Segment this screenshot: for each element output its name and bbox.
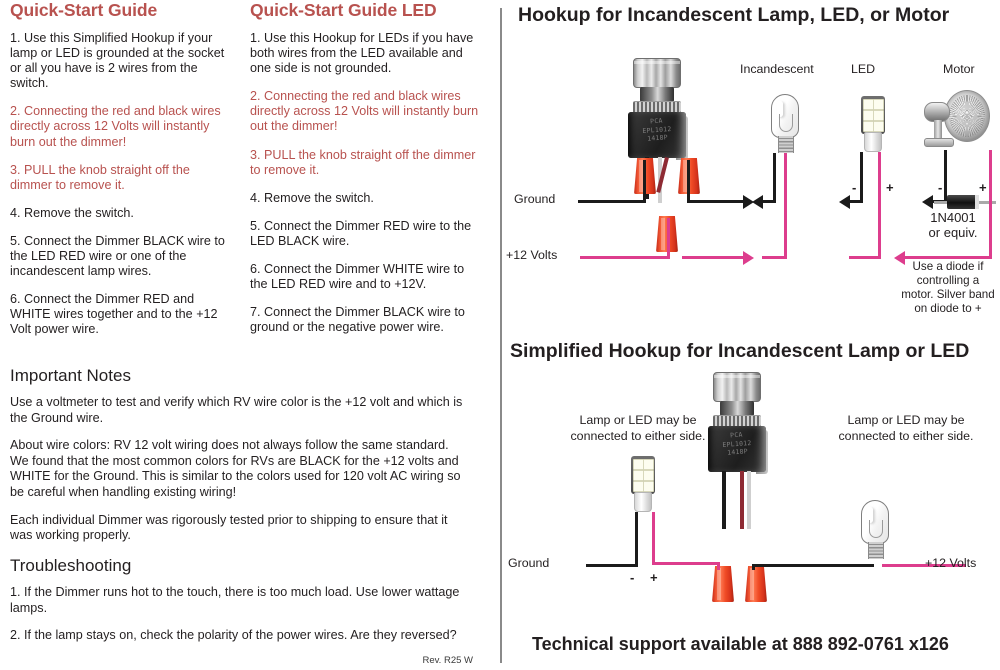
dimmer-marking-text: PCAEPL10121418P	[707, 429, 767, 458]
wire-nut	[745, 566, 767, 602]
quick-start-step: 3. PULL the knob straight off the dimmer…	[10, 163, 235, 193]
motor-wire-pink	[989, 150, 992, 257]
label-incandescent: Incandescent	[740, 62, 814, 76]
led-plus-sign: +	[650, 570, 658, 585]
dimmer-marking-text: PCAEPL10121418P	[627, 115, 687, 144]
dimmer-device-bottom: PCAEPL10121418P	[700, 372, 774, 492]
dimmer-neck	[640, 87, 674, 102]
motor-plus-sign: +	[979, 180, 987, 195]
led-wire-black	[860, 152, 863, 201]
incandescent-wire-pink	[784, 153, 787, 257]
power-wire-pink	[682, 256, 744, 259]
fan-cage	[944, 90, 990, 142]
led-wire-pink	[849, 256, 881, 259]
arrow-left-icon	[839, 195, 850, 209]
incandescent-bulb-icon	[858, 500, 892, 562]
troubleshooting-section: Troubleshooting 1. If the Dimmer runs ho…	[10, 556, 470, 656]
led-bulb-icon	[628, 456, 658, 514]
led-base	[864, 132, 882, 152]
incandescent-bulb-icon	[768, 94, 802, 156]
arrow-right-icon	[743, 251, 754, 265]
quick-start-led-step: 4. Remove the switch.	[250, 191, 482, 206]
motor-fan-icon	[918, 88, 990, 152]
quick-start-led-step: 1. Use this Hookup for LEDs if you have …	[250, 31, 482, 76]
incandescent-wire-pink	[762, 256, 787, 259]
label-motor: Motor	[943, 62, 975, 76]
led-minus-sign: -	[852, 180, 856, 195]
ground-wire-black	[643, 160, 646, 203]
diagrams-pane: Hookup for Incandescent Lamp, LED, or Mo…	[500, 0, 1000, 670]
important-note: Each individual Dimmer was rigorously te…	[10, 513, 470, 544]
fan-stem	[934, 120, 942, 140]
power-wire-pink	[717, 562, 720, 570]
quick-start-led-step: 5. Connect the Dimmer RED wire to the LE…	[250, 219, 482, 249]
dimmer-black-lead	[722, 471, 726, 529]
quick-start-title: Quick-Start Guide	[10, 0, 235, 20]
label-12volts-top: +12 Volts	[506, 248, 557, 262]
lamp-wire-black	[752, 564, 874, 567]
quick-start-column: Quick-Start Guide 1. Use this Simplified…	[10, 0, 235, 351]
led-wire-pink	[878, 152, 881, 257]
diode-silver-band	[975, 195, 979, 209]
ground-wire-black	[586, 564, 638, 567]
power-wire-pink	[667, 218, 670, 258]
incandescent-wire-black	[773, 153, 776, 201]
top-diagram-title: Hookup for Incandescent Lamp, LED, or Mo…	[518, 4, 949, 27]
dimmer-knob-icon	[713, 372, 761, 402]
important-notes-title: Important Notes	[10, 366, 470, 386]
support-line: Technical support available at 888 892-0…	[532, 634, 949, 655]
label-led: LED	[851, 62, 875, 76]
diode-note: Use a diode ifcontrolling amotor. Silver…	[896, 260, 1000, 316]
dimmer-white-lead	[747, 471, 751, 529]
bulb-base	[778, 136, 794, 153]
led-wire-black	[849, 200, 863, 203]
dimmer-knob-icon	[633, 58, 681, 88]
motor-wire-black	[944, 150, 947, 201]
power-wire-pink	[652, 512, 655, 564]
troubleshooting-title: Troubleshooting	[10, 556, 470, 576]
bulb-filament	[779, 114, 793, 132]
quick-start-led-step: 3. PULL the knob straight off the dimmer…	[250, 148, 482, 178]
troubleshooting-item: 2. If the lamp stays on, check the polar…	[10, 628, 470, 644]
datasheet-page: Quick-Start Guide 1. Use this Simplified…	[0, 0, 1000, 670]
label-ground-bottom: Ground	[508, 556, 549, 570]
label-ground-top: Ground	[514, 192, 555, 206]
ground-wire-black	[578, 200, 646, 203]
arrow-left-icon	[752, 195, 763, 209]
motor-minus-sign: -	[938, 180, 942, 195]
power-wire-pink	[652, 562, 720, 565]
quick-start-led-step: 2. Connecting the red and black wires di…	[250, 89, 482, 134]
quick-start-step: 5. Connect the Dimmer BLACK wire to the …	[10, 234, 235, 279]
led-bulb-icon	[858, 96, 888, 154]
led-body	[861, 96, 885, 134]
important-note: Use a voltmeter to test and verify which…	[10, 395, 470, 426]
led-base	[634, 492, 652, 512]
important-notes-section: Important Notes Use a voltmeter to test …	[10, 366, 470, 556]
diode-icon	[934, 195, 996, 209]
ground-wire-black	[635, 512, 638, 567]
revision-label: Rev. R25 W	[422, 655, 473, 666]
arrow-left-icon	[922, 195, 933, 209]
dimmer-neck	[720, 401, 754, 416]
device-wire-black	[687, 200, 745, 203]
quick-start-step: 4. Remove the switch.	[10, 206, 235, 221]
troubleshooting-item: 1. If the Dimmer runs hot to the touch, …	[10, 585, 470, 616]
led-plus-sign: +	[886, 180, 894, 195]
quick-start-led-step: 7. Connect the Dimmer BLACK wire to grou…	[250, 305, 482, 335]
led-body	[631, 456, 655, 494]
motor-wire-pink	[905, 256, 992, 259]
bulb-base	[868, 542, 884, 559]
dimmer-red-lead	[740, 471, 744, 529]
important-note: About wire colors: RV 12 volt wiring doe…	[10, 438, 470, 500]
wire-nut	[712, 566, 734, 602]
instructions-pane: Quick-Start Guide 1. Use this Simplified…	[0, 0, 495, 670]
quick-start-led-column: Quick-Start Guide LED 1. Use this Hookup…	[250, 0, 482, 348]
incandescent-wire-black	[762, 200, 776, 203]
quick-start-led-title: Quick-Start Guide LED	[250, 0, 482, 20]
dimmer-body: PCAEPL10121418P	[708, 426, 766, 472]
power-wire-pink	[580, 256, 670, 259]
quick-start-step: 2. Connecting the red and black wires di…	[10, 104, 235, 149]
bottom-diagram-title: Simplified Hookup for Incandescent Lamp …	[510, 340, 969, 363]
label-12volts-bottom: +12 Volts	[925, 556, 976, 570]
fan-base	[924, 138, 954, 147]
note-right: Lamp or LED may beconnected to either si…	[818, 412, 994, 444]
led-minus-sign: -	[630, 570, 634, 585]
quick-start-led-step: 6. Connect the Dimmer WHITE wire to the …	[250, 262, 482, 292]
diode-part-label: 1N4001or equiv.	[910, 210, 996, 240]
quick-start-step: 6. Connect the Dimmer RED and WHITE wire…	[10, 292, 235, 337]
bulb-filament	[869, 520, 883, 538]
dimmer-body: PCAEPL10121418P	[628, 112, 686, 158]
device-wire-black	[687, 160, 690, 202]
fan-motor-housing	[924, 102, 950, 122]
quick-start-step: 1. Use this Simplified Hookup if your la…	[10, 31, 235, 91]
